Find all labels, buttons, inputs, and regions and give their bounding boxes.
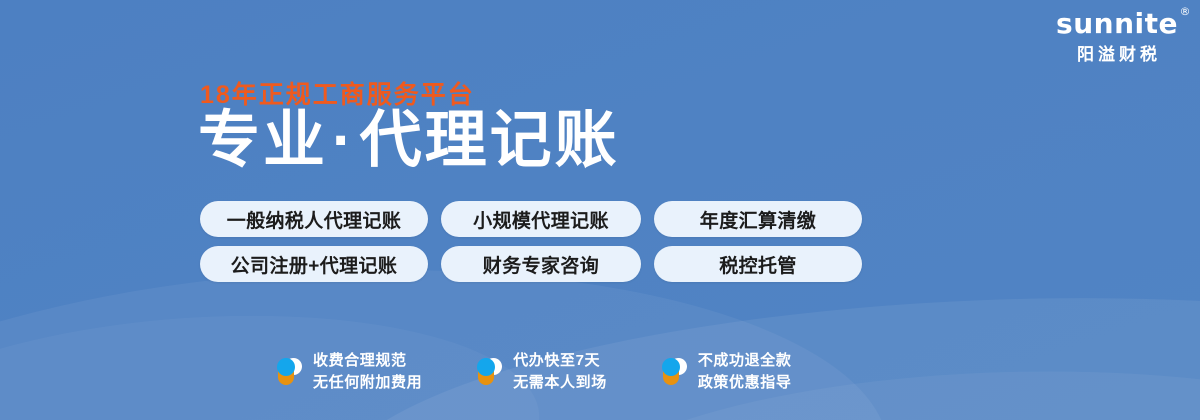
service-pill-tax-control-custody[interactable]: 税控托管: [654, 246, 862, 282]
feature-item-text: 收费合理规范 无任何附加费用: [313, 350, 422, 394]
feature-item-text: 不成功退全款 政策优惠指导: [698, 350, 792, 394]
background-wave-decor: [324, 275, 1200, 420]
feature-line-1: 收费合理规范: [313, 352, 407, 369]
service-pill-annual-settlement[interactable]: 年度汇算清缴: [654, 201, 862, 237]
service-pill-row-2: 公司注册+代理记账 财务专家咨询 税控托管: [200, 246, 862, 282]
feature-line-1: 代办快至7天: [513, 352, 600, 369]
feature-line-2: 政策优惠指导: [698, 374, 792, 391]
feature-item-guarantee: 不成功退全款 政策优惠指导: [661, 350, 792, 394]
feature-list: 收费合理规范 无任何附加费用 代办快至7天 无需本人到场 不成功退全款: [276, 350, 791, 394]
service-pill-row-1: 一般纳税人代理记账 小规模代理记账 年度汇算清缴: [200, 201, 862, 237]
feature-item-text: 代办快至7天 无需本人到场: [513, 350, 607, 394]
feature-line-2: 无任何附加费用: [313, 374, 422, 391]
service-pill-group: 一般纳税人代理记账 小规模代理记账 年度汇算清缴 公司注册+代理记账 财务专家咨…: [200, 201, 862, 282]
feature-line-2: 无需本人到场: [513, 374, 607, 391]
brand-logo-chinese-name: 阳溢财税: [1056, 46, 1178, 63]
hero-title-left: 专业: [198, 106, 328, 175]
hero-title: 专业·代理记账: [198, 108, 620, 175]
service-pill-general-taxpayer-bookkeeping[interactable]: 一般纳税人代理记账: [200, 201, 428, 237]
service-pill-finance-expert-consulting[interactable]: 财务专家咨询: [441, 246, 641, 282]
eclipse-badge-icon: [661, 356, 689, 388]
brand-logo-text: sunnite: [1056, 7, 1178, 40]
eclipse-badge-icon: [476, 356, 504, 388]
brand-logo-wordmark: sunnite®: [1056, 10, 1178, 38]
service-pill-company-registration-bookkeeping[interactable]: 公司注册+代理记账: [200, 246, 428, 282]
registered-trademark-icon: ®: [1180, 6, 1192, 17]
feature-line-1: 不成功退全款: [698, 352, 792, 369]
brand-logo[interactable]: sunnite® 阳溢财税: [1056, 10, 1178, 63]
service-pill-small-scale-bookkeeping[interactable]: 小规模代理记账: [441, 201, 641, 237]
hero-title-separator: ·: [328, 108, 360, 175]
eclipse-badge-icon: [276, 356, 304, 388]
promo-banner: sunnite® 阳溢财税 18年正规工商服务平台 专业·代理记账 一般纳税人代…: [0, 0, 1200, 420]
feature-item-pricing: 收费合理规范 无任何附加费用: [276, 350, 422, 394]
hero-title-right: 代理记账: [360, 106, 620, 175]
feature-item-speed: 代办快至7天 无需本人到场: [476, 350, 607, 394]
